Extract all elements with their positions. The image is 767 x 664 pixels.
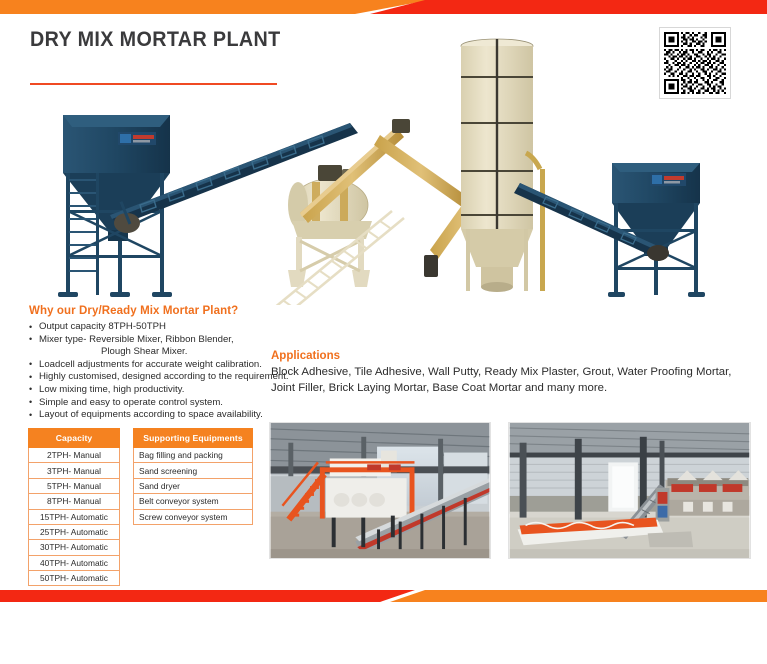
photo-2-svg [509,423,750,558]
list-item: Output capacity 8TPH-50TPH [29,321,279,334]
capacity-table-header: Capacity [28,428,120,448]
list-item: Mixer type- Reversible Mixer, Ribbon Ble… [29,334,279,347]
top-banner [0,0,767,14]
table-row: 30TPH- Automatic [28,540,120,555]
why-feature-list: Output capacity 8TPH-50TPH Mixer type- R… [29,321,279,422]
why-section-heading: Why our Dry/Ready Mix Mortar Plant? [29,305,238,317]
list-item: Plough Shear Mixer. [29,346,279,359]
table-row: 50TPH- Automatic [28,571,120,586]
capacity-table: Capacity 2TPH- Manual 3TPH- Manual 5TPH-… [28,428,120,586]
list-item: Simple and easy to operate control syste… [29,397,279,410]
applications-body: Block Adhesive, Tile Adhesive, Wall Putt… [271,365,751,396]
equipment-table-header: Supporting Equipments [133,428,253,448]
table-row: Bag filling and packing [133,448,253,463]
plant-installation-photo-2 [508,422,751,559]
supporting-equipments-table: Supporting Equipments Bag filling and pa… [133,428,253,525]
list-item: Loadcell adjustments for accurate weight… [29,359,279,372]
table-row: 8TPH- Manual [28,494,120,509]
top-banner-orange [0,0,430,14]
table-row: 2TPH- Manual [28,448,120,463]
table-row: 25TPH- Automatic [28,525,120,540]
table-row: 40TPH- Automatic [28,556,120,571]
plant-installation-photo-1 [269,422,491,559]
plant-illustration-svg [0,15,767,305]
center-mixer [288,165,372,287]
table-row: Sand dryer [133,479,253,494]
table-row: 15TPH- Automatic [28,510,120,525]
table-row: Screw conveyor system [133,510,253,525]
bottom-banner-red [0,590,440,602]
table-row: Sand screening [133,463,253,478]
list-item: Low mixing time, high productivity. [29,384,279,397]
table-row: 3TPH- Manual [28,463,120,478]
bottom-banner [0,590,767,602]
cement-silo [461,39,545,292]
list-item: Highly customised, designed according to… [29,371,279,384]
photo-1-svg [270,423,490,558]
applications-heading: Applications [271,350,340,362]
table-row: Belt conveyor system [133,494,253,509]
brochure-page: DRY MIX MORTAR PLANT [0,0,767,664]
bottom-banner-orange [370,590,767,602]
list-item: Layout of equipments according to space … [29,409,279,422]
table-row: 5TPH- Manual [28,479,120,494]
plant-illustration [0,15,767,305]
